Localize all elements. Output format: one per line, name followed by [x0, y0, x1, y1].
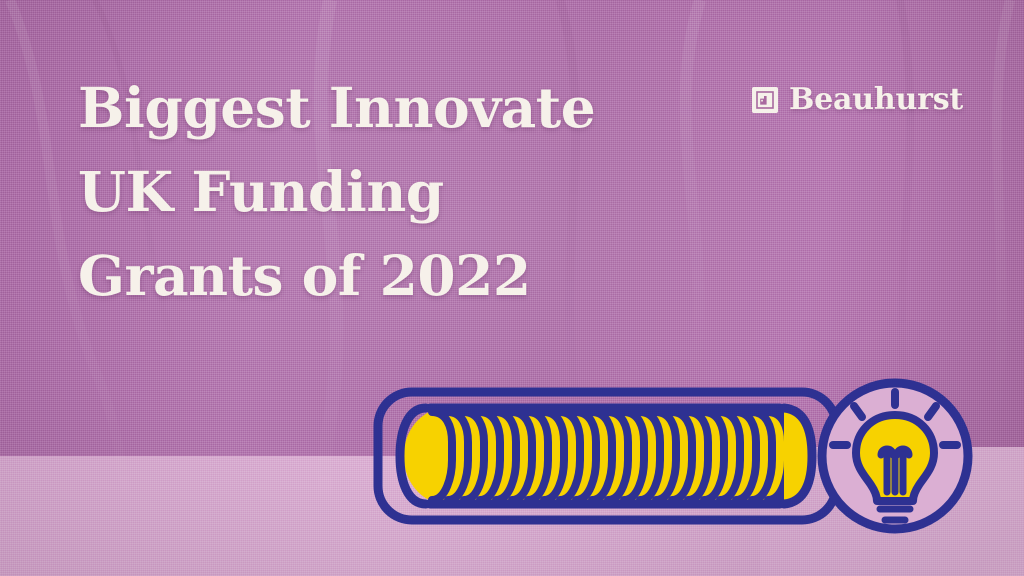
banner: Biggest Innovate UK Funding Grants of 20… — [0, 0, 1024, 576]
headline-line-1: Biggest Innovate — [78, 66, 698, 150]
banner-headline: Biggest Innovate UK Funding Grants of 20… — [78, 66, 698, 318]
headline-line-3: Grants of 2022 — [78, 234, 698, 318]
brand-name: Beauhurst — [789, 82, 963, 117]
lightbulb-circle-group — [822, 383, 968, 529]
lightbulb-filament-icon — [881, 449, 909, 492]
coil-right-cap — [784, 408, 812, 504]
coil-tube-group — [378, 392, 836, 520]
coil-of-money-and-lightbulb-illustration — [360, 368, 990, 546]
headline-line-2: UK Funding — [78, 150, 698, 234]
beauhurst-logomark-icon — [752, 87, 778, 113]
brand-lockup[interactable]: Beauhurst — [752, 82, 963, 117]
